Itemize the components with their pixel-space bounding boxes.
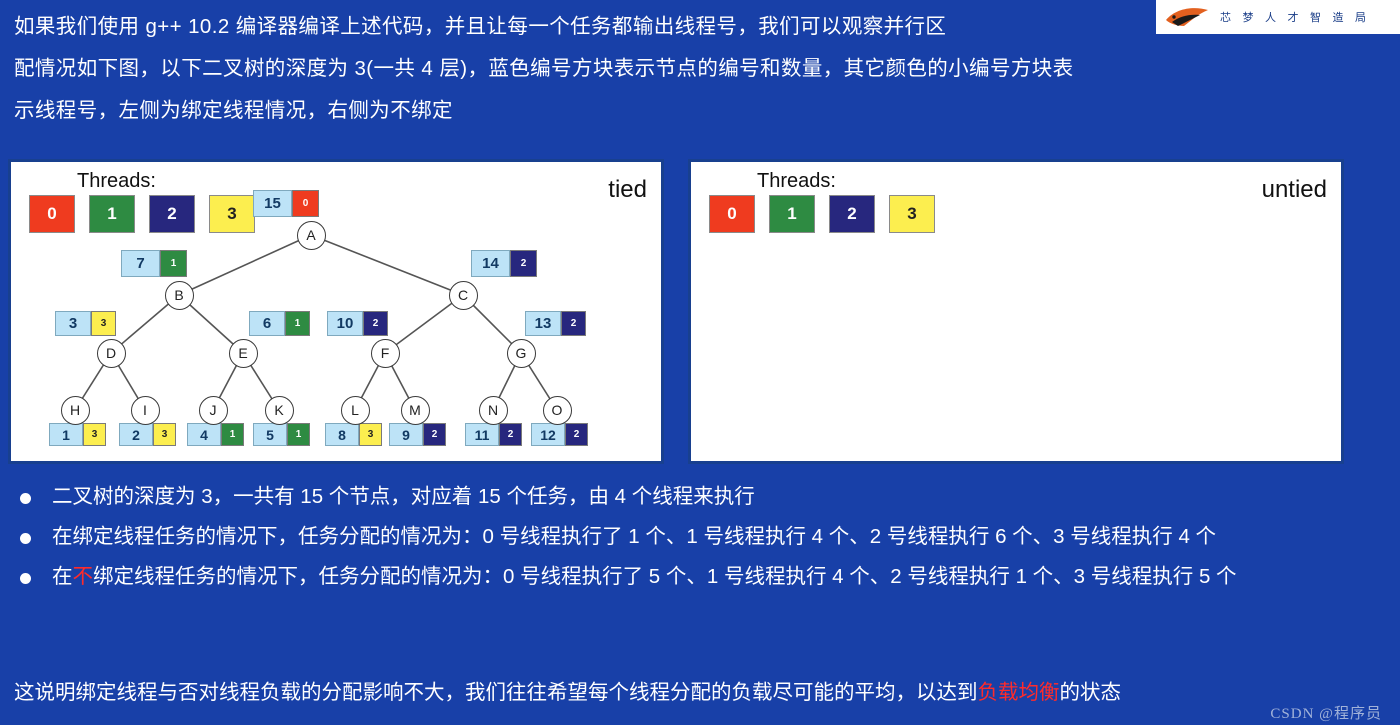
node-thread-id: 3 (91, 311, 116, 336)
tree-node-l: L (341, 396, 370, 425)
binary-tree-untied: A152B70C141D33E60F103G131H13I23J40K50L80… (691, 162, 1341, 461)
node-thread-id: 1 (160, 250, 187, 277)
bullet-item-3: 在不绑定线程任务的情况下，任务分配的情况为：0 号线程执行了 5 个、1 号线程… (8, 558, 1392, 596)
tree-node-label: J (210, 402, 217, 418)
closing-highlight: 负载均衡 (978, 681, 1060, 704)
bullet-item-2: 在绑定线程任务的情况下，任务分配的情况为：0 号线程执行了 1 个、1 号线程执… (8, 518, 1392, 556)
node-tag-h: 13 (49, 423, 106, 446)
node-count: 12 (531, 423, 565, 446)
intro-line-3: 示线程号，左侧为绑定线程情况，右侧为不绑定 (14, 90, 1386, 132)
node-tag-i: 23 (119, 423, 176, 446)
tree-node-label: D (106, 345, 116, 361)
closing-pre: 这说明绑定线程与否对线程负载的分配影响不大，我们往往希望每个线程分配的负载尽可能… (14, 681, 978, 704)
node-thread-id: 1 (221, 423, 244, 446)
node-thread-id: 2 (363, 311, 388, 336)
node-tag-b: 71 (121, 250, 187, 277)
watermark-logo: 芯 梦 人 才 智 造 局 (1156, 0, 1400, 34)
node-tag-j: 41 (187, 423, 244, 446)
node-tag-l: 83 (325, 423, 382, 446)
node-thread-id: 3 (83, 423, 106, 446)
diagram-panel-untied: untied Threads: 0 1 2 3 A152B70C141D33E6… (688, 159, 1344, 464)
bullet-text-pre: 在 (52, 565, 73, 588)
node-thread-id: 1 (287, 423, 310, 446)
tree-node-h: H (61, 396, 90, 425)
tree-node-b: B (165, 281, 194, 310)
node-thread-id: 2 (565, 423, 588, 446)
closing-post: 的状态 (1060, 681, 1122, 704)
tree-node-label: E (238, 345, 247, 361)
node-count: 6 (249, 311, 285, 336)
bullet-text: 二叉树的深度为 3，一共有 15 个节点，对应着 15 个任务，由 4 个线程来… (52, 485, 755, 508)
tree-node-label: N (488, 402, 498, 418)
tree-node-g: G (507, 339, 536, 368)
node-tag-k: 51 (253, 423, 310, 446)
tree-node-f: F (371, 339, 400, 368)
tree-node-label: M (409, 402, 421, 418)
tree-node-c: C (449, 281, 478, 310)
node-tag-c: 142 (471, 250, 537, 277)
node-tag-m: 92 (389, 423, 446, 446)
node-thread-id: 2 (423, 423, 446, 446)
tree-node-e: E (229, 339, 258, 368)
tree-node-j: J (199, 396, 228, 425)
tree-node-k: K (265, 396, 294, 425)
node-count: 4 (187, 423, 221, 446)
bullet-text-highlight: 不 (73, 565, 94, 588)
node-thread-id: 1 (285, 311, 310, 336)
tree-node-n: N (479, 396, 508, 425)
node-count: 11 (465, 423, 499, 446)
node-count: 14 (471, 250, 510, 277)
node-count: 7 (121, 250, 160, 277)
node-thread-id: 3 (359, 423, 382, 446)
node-tag-o: 122 (531, 423, 588, 446)
closing-paragraph: 这说明绑定线程与否对线程负载的分配影响不大，我们往往希望每个线程分配的负载尽可能… (14, 676, 1394, 710)
tree-node-o: O (543, 396, 572, 425)
tree-node-a: A (297, 221, 326, 250)
tree-node-label: C (458, 287, 468, 303)
bullet-text-post: 绑定线程任务的情况下，任务分配的情况为：0 号线程执行了 5 个、1 号线程执行… (93, 565, 1237, 588)
tree-node-label: A (306, 227, 315, 243)
node-count: 10 (327, 311, 363, 336)
tree-node-d: D (97, 339, 126, 368)
tree-node-label: O (552, 402, 563, 418)
tree-node-label: H (70, 402, 80, 418)
diagram-panel-tied: tied Threads: 0 1 2 3 A150B71C142D33E61F… (8, 159, 664, 464)
tree-node-label: L (351, 402, 359, 418)
tree-node-label: F (381, 345, 390, 361)
node-count: 5 (253, 423, 287, 446)
node-thread-id: 3 (153, 423, 176, 446)
node-count: 15 (253, 190, 292, 217)
tree-node-label: K (274, 402, 283, 418)
binary-tree-tied: A150B71C142D33E61F102G132H13I23J41K51L83… (11, 162, 661, 461)
node-count: 2 (119, 423, 153, 446)
node-tag-d: 33 (55, 311, 116, 336)
tree-node-label: I (143, 402, 147, 418)
csdn-watermark: CSDN @程序员 (1270, 702, 1382, 723)
node-thread-id: 0 (292, 190, 319, 217)
bullet-item-1: 二叉树的深度为 3，一共有 15 个节点，对应着 15 个任务，由 4 个线程来… (8, 478, 1392, 516)
summary-bullet-list: 二叉树的深度为 3，一共有 15 个节点，对应着 15 个任务，由 4 个线程来… (8, 478, 1392, 598)
tree-node-label: G (516, 345, 527, 361)
logo-text: 芯 梦 人 才 智 造 局 (1220, 9, 1370, 25)
node-count: 9 (389, 423, 423, 446)
node-count: 8 (325, 423, 359, 446)
node-tag-e: 61 (249, 311, 310, 336)
node-thread-id: 2 (561, 311, 586, 336)
node-thread-id: 2 (499, 423, 522, 446)
node-thread-id: 2 (510, 250, 537, 277)
tree-node-m: M (401, 396, 430, 425)
node-tag-g: 132 (525, 311, 586, 336)
tree-node-label: B (174, 287, 183, 303)
bullet-text: 在绑定线程任务的情况下，任务分配的情况为：0 号线程执行了 1 个、1 号线程执… (52, 525, 1216, 548)
node-tag-a: 150 (253, 190, 319, 217)
tree-node-i: I (131, 396, 160, 425)
slide-page: 如果我们使用 g++ 10.2 编译器编译上述代码，并且让每一个任务都输出线程号… (0, 0, 1400, 725)
node-tag-f: 102 (327, 311, 388, 336)
tree-edges (691, 162, 1344, 464)
node-tag-n: 112 (465, 423, 522, 446)
node-count: 1 (49, 423, 83, 446)
node-count: 3 (55, 311, 91, 336)
bird-logo-icon (1162, 4, 1214, 30)
node-count: 13 (525, 311, 561, 336)
intro-line-2: 配情况如下图，以下二叉树的深度为 3(一共 4 层)，蓝色编号方块表示节点的编号… (14, 48, 1386, 90)
